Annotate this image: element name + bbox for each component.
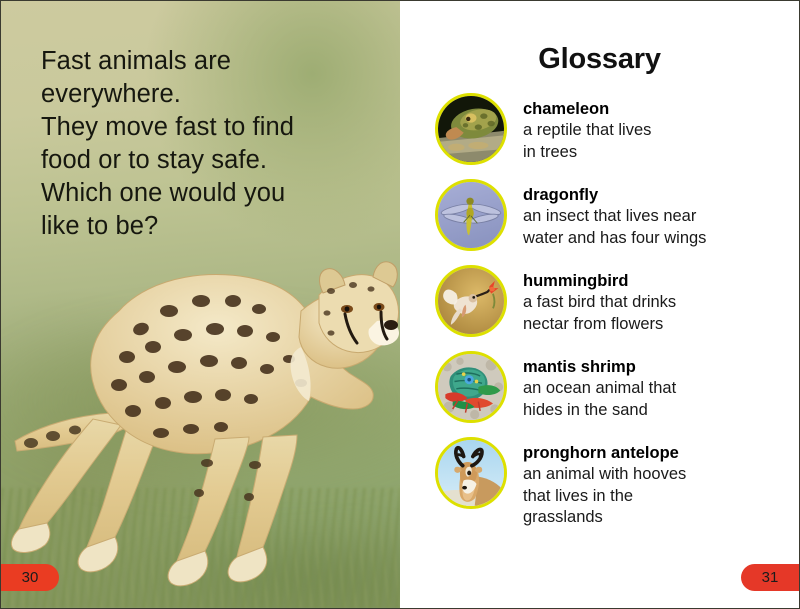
body-line-2: everywhere. [41,78,371,111]
page-number-right: 31 [741,564,799,591]
glossary-entry-mantis-shrimp: mantis shrimp an ocean animal that hides… [400,351,799,423]
left-page-body-text: Fast animals are everywhere. They move f… [41,45,371,243]
right-page: Glossary [400,0,800,609]
dragonfly-thumbnail-icon [435,179,507,251]
pronghorn-antelope-definition-line-3: grasslands [523,507,686,529]
book-spread: Fast animals are everywhere. They move f… [0,0,800,609]
mantis-shrimp-term: mantis shrimp [523,357,676,378]
page-number-left: 30 [1,564,59,591]
pronghorn-antelope-thumbnail-icon [435,437,507,509]
left-page: Fast animals are everywhere. They move f… [0,0,400,609]
body-line-1: Fast animals are [41,45,371,78]
body-line-4: food or to stay safe. [41,144,371,177]
pronghorn-antelope-term: pronghorn antelope [523,443,686,464]
chameleon-thumbnail-icon [435,93,507,165]
hummingbird-definition-line-1: a fast bird that drinks [523,292,676,314]
pronghorn-antelope-text: pronghorn antelope an animal with hooves… [523,437,686,529]
glossary-entry-hummingbird: hummingbird a fast bird that drinks nect… [400,265,799,337]
hummingbird-thumbnail-icon [435,265,507,337]
dragonfly-term: dragonfly [523,185,706,206]
body-line-3: They move fast to find [41,111,371,144]
hummingbird-definition-line-2: nectar from flowers [523,314,676,336]
glossary-entry-list: chameleon a reptile that lives in trees [400,93,799,529]
chameleon-definition-line-2: in trees [523,142,651,164]
dragonfly-definition-line-2: water and has four wings [523,228,706,250]
mantis-shrimp-text: mantis shrimp an ocean animal that hides… [523,351,676,421]
pronghorn-antelope-definition-line-1: an animal with hooves [523,464,686,486]
hummingbird-term: hummingbird [523,271,676,292]
mantis-shrimp-definition-line-1: an ocean animal that [523,378,676,400]
mantis-shrimp-thumbnail-icon [435,351,507,423]
hummingbird-text: hummingbird a fast bird that drinks nect… [523,265,676,335]
chameleon-term: chameleon [523,99,651,120]
body-line-6: like to be? [41,210,371,243]
glossary-entry-chameleon: chameleon a reptile that lives in trees [400,93,799,165]
dragonfly-text: dragonfly an insect that lives near wate… [523,179,706,249]
cheetah-illustration [1,251,400,609]
pronghorn-antelope-definition-line-2: that lives in the [523,486,686,508]
glossary-entry-dragonfly: dragonfly an insect that lives near wate… [400,179,799,251]
mantis-shrimp-definition-line-2: hides in the sand [523,400,676,422]
chameleon-text: chameleon a reptile that lives in trees [523,93,651,163]
chameleon-definition-line-1: a reptile that lives [523,120,651,142]
glossary-entry-pronghorn-antelope: pronghorn antelope an animal with hooves… [400,437,799,529]
body-line-5: Which one would you [41,177,371,210]
dragonfly-definition-line-1: an insect that lives near [523,206,706,228]
glossary-title: Glossary [400,43,799,76]
